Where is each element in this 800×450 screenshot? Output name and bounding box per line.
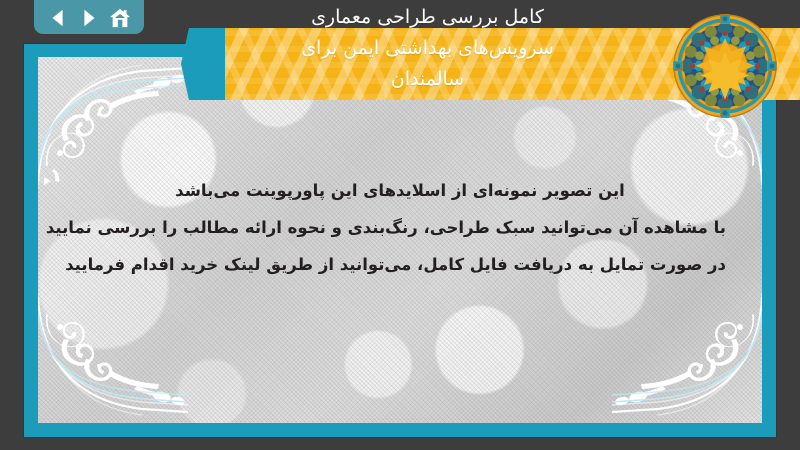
body-line-3: در صورت تمایل به دریافت فایل کامل، می‌تو… xyxy=(74,246,726,283)
home-icon[interactable] xyxy=(109,7,131,29)
triangle-left-icon[interactable] xyxy=(47,7,69,29)
body-line-2: با مشاهده آن می‌توانید سبک طراحی، رنگ‌بن… xyxy=(74,209,726,246)
body-line-1: این تصویر نمونه‌ای از اسلایدهای این پاور… xyxy=(74,172,726,209)
triangle-right-icon[interactable] xyxy=(78,7,100,29)
slide-body-text: این تصویر نمونه‌ای از اسلایدهای این پاور… xyxy=(74,172,726,283)
slide-viewer: این تصویر نمونه‌ای از اسلایدهای این پاور… xyxy=(0,0,800,450)
slide-frame: این تصویر نمونه‌ای از اسلایدهای این پاور… xyxy=(24,44,776,437)
banner-arrow-tip xyxy=(181,28,225,100)
navigation-bar[interactable] xyxy=(34,0,144,34)
persian-medallion-icon xyxy=(672,13,778,119)
